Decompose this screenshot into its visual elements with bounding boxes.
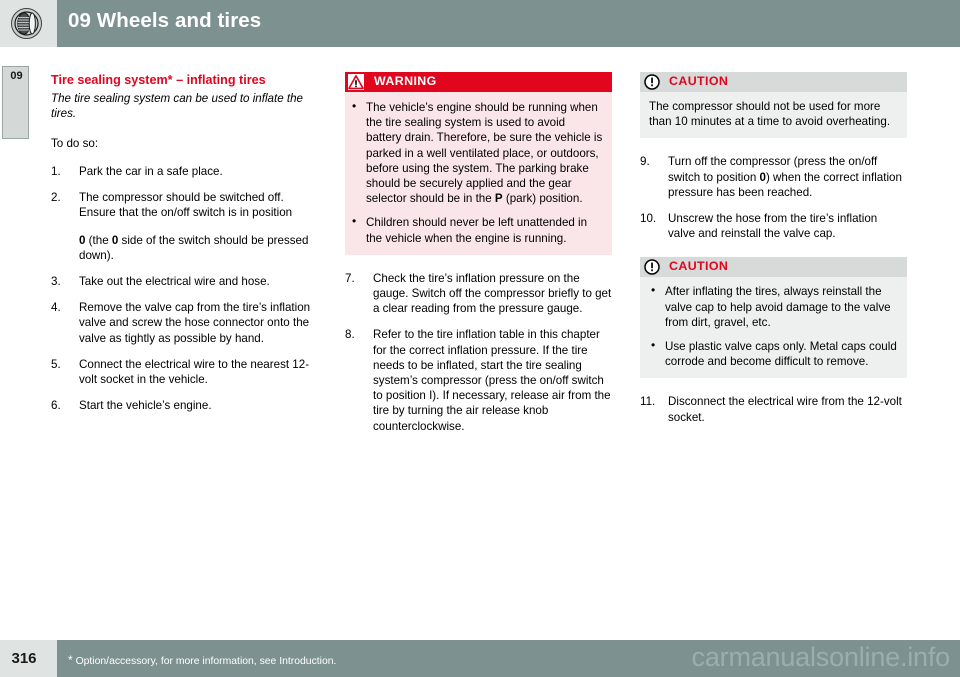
procedure-step: 6.Start the vehicle’s engine. [51, 398, 318, 413]
step-number: 1. [51, 164, 72, 179]
caution-body-1: The compressor should not be used for mo… [640, 92, 907, 138]
footnote: * Option/accessory, for more information… [68, 653, 336, 667]
footnote-marker: * [68, 653, 73, 667]
procedure-steps-4: 11.Disconnect the electrical wire from t… [640, 394, 907, 424]
step-text: Refer to the tire inflation table in thi… [373, 327, 612, 433]
caution-bullet-list: •After inflating the tires, always reins… [649, 284, 898, 369]
list-item-text: Children should never be left unattended… [366, 216, 587, 244]
warning-triangle-icon [348, 74, 364, 90]
step-number: 8. [345, 327, 366, 342]
procedure-step: 11.Disconnect the electrical wire from t… [640, 394, 907, 424]
warning-box: WARNING •The vehicle’s engine should be … [345, 72, 612, 255]
caution-text-1: The compressor should not be used for mo… [649, 99, 898, 129]
step-text: Remove the valve cap from the tire’s inf… [79, 300, 318, 346]
warning-header: WARNING [345, 72, 612, 92]
section-lead: To do so: [51, 136, 318, 151]
step-text: Check the tire’s inflation pressure on t… [373, 271, 612, 317]
tire-icon [11, 8, 42, 39]
procedure-steps-3: 9.Turn off the compressor (press the on/… [640, 154, 907, 241]
step-text: Take out the electrical wire and hose. [79, 274, 318, 289]
caution-exclamation-icon [644, 259, 660, 275]
step-number: 2. [51, 190, 72, 205]
step-number: 6. [51, 398, 72, 413]
procedure-step: 7.Check the tire’s inflation pressure on… [345, 271, 612, 317]
step-text: Park the car in a safe place. [79, 164, 318, 179]
procedure-steps-2: 7.Check the tire’s inflation pressure on… [345, 271, 612, 434]
step-number: 11. [640, 394, 661, 409]
warning-bullet-list: •The vehicle’s engine should be running … [350, 100, 603, 246]
content-column-2: WARNING •The vehicle’s engine should be … [345, 72, 612, 445]
caution-label-2: CAUTION [669, 259, 728, 274]
list-item-text: The vehicle’s engine should be running w… [366, 101, 602, 205]
bullet-dot-icon: • [352, 99, 356, 114]
procedure-step: 9.Turn off the compressor (press the on/… [640, 154, 907, 200]
page-header: 09 Wheels and tires [0, 0, 960, 47]
footnote-text: Option/accessory, for more information, … [76, 656, 337, 667]
bullet-dot-icon: • [651, 283, 655, 298]
content-column-1: Tire sealing system* – inflating tires T… [51, 72, 318, 424]
caution-box-1: CAUTION The compressor should not be use… [640, 72, 907, 138]
list-item: •The vehicle’s engine should be running … [350, 100, 603, 206]
procedure-step: 1.Park the car in a safe place. [51, 164, 318, 179]
warning-body: •The vehicle’s engine should be running … [345, 92, 612, 255]
caution-box-2: CAUTION •After inflating the tires, alwa… [640, 257, 907, 378]
caution-exclamation-icon [644, 74, 660, 90]
list-item: •After inflating the tires, always reins… [649, 284, 898, 330]
step-number: 5. [51, 357, 72, 372]
step-number: 10. [640, 211, 661, 226]
section-intro: The tire sealing system can be used to i… [51, 91, 318, 122]
step-number: 4. [51, 300, 72, 315]
site-watermark: carmanualsonline.info [692, 642, 950, 673]
caution-body-2: •After inflating the tires, always reins… [640, 277, 907, 378]
list-item-text: After inflating the tires, always reinst… [665, 285, 891, 328]
step-text: Disconnect the electrical wire from the … [668, 394, 907, 424]
procedure-step: 5.Connect the electrical wire to the nea… [51, 357, 318, 387]
procedure-step: 8.Refer to the tire inflation table in t… [345, 327, 612, 433]
step-text: 0 (the 0 side of the switch should be pr… [79, 233, 318, 263]
list-item-text: Use plastic valve caps only. Metal caps … [665, 340, 897, 368]
step-text: Turn off the compressor (press the on/of… [668, 154, 907, 200]
page-number: 316 [0, 650, 48, 667]
step-text: Start the vehicle’s engine. [79, 398, 318, 413]
step-number: 3. [51, 274, 72, 289]
warning-label: WARNING [374, 74, 437, 89]
page-number-container: 316 [0, 640, 57, 677]
list-item: •Children should never be left unattende… [350, 215, 603, 245]
list-item: •Use plastic valve caps only. Metal caps… [649, 339, 898, 369]
header-icon-container [0, 0, 57, 47]
step-text: Connect the electrical wire to the neare… [79, 357, 318, 387]
step-text: Unscrew the hose from the tire’s inflati… [668, 211, 907, 241]
step-number: 9. [640, 154, 661, 169]
procedure-steps-1: 1.Park the car in a safe place.2.The com… [51, 164, 318, 413]
procedure-step: 3.Take out the electrical wire and hose. [51, 274, 318, 289]
step-text: The compressor should be switched off. E… [79, 190, 318, 220]
chapter-tab-label: 09 [3, 70, 30, 82]
step-number: 7. [345, 271, 366, 286]
caution-label-1: CAUTION [669, 74, 728, 89]
procedure-step: 2.The compressor should be switched off.… [51, 190, 318, 263]
page-title: 09 Wheels and tires [68, 9, 261, 33]
chapter-tab[interactable]: 09 [2, 66, 29, 139]
bullet-dot-icon: • [352, 214, 356, 229]
page-footer: 316 * Option/accessory, for more informa… [0, 640, 960, 677]
bullet-dot-icon: • [651, 338, 655, 353]
procedure-step: 4.Remove the valve cap from the tire’s i… [51, 300, 318, 346]
procedure-step: 10.Unscrew the hose from the tire’s infl… [640, 211, 907, 241]
caution-header-1: CAUTION [640, 72, 907, 92]
caution-header-2: CAUTION [640, 257, 907, 277]
section-title: Tire sealing system* – inflating tires [51, 72, 318, 88]
content-column-3: CAUTION The compressor should not be use… [640, 72, 907, 436]
